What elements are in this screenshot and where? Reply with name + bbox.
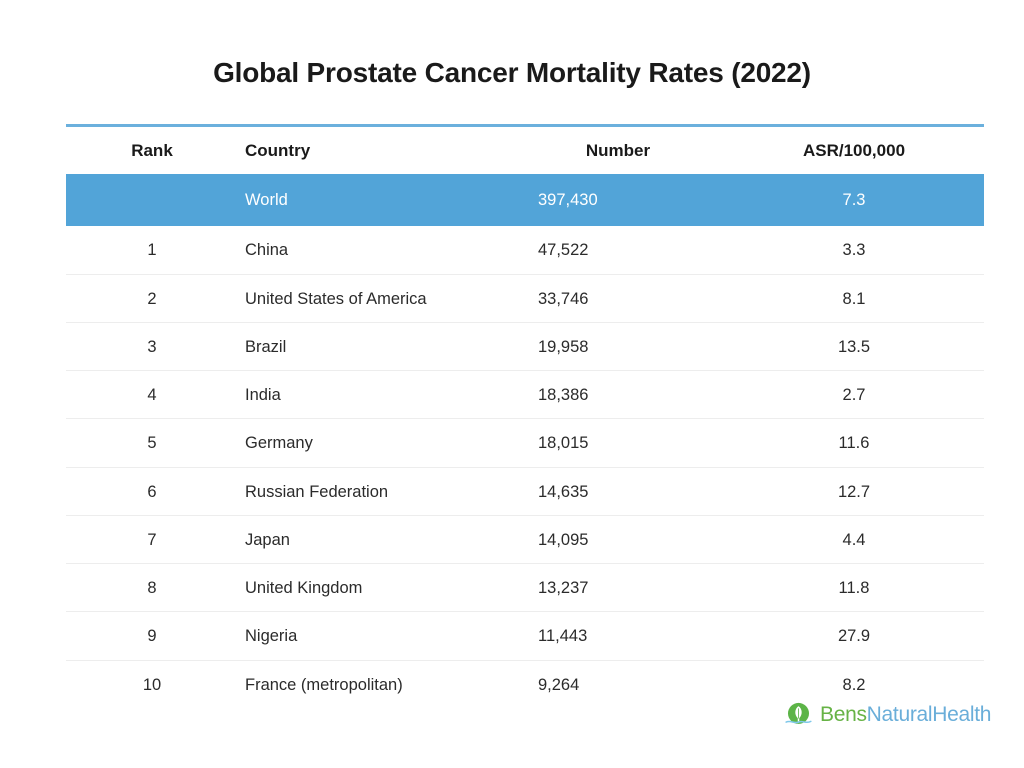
column-header-number: Number [512,127,724,174]
cell-country: Germany [238,419,512,467]
logo-text-primary: Bens [820,703,867,726]
cell-rank: 1 [66,226,238,274]
cell-rank: 9 [66,612,238,660]
logo-text-secondary: NaturalHealth [867,703,992,726]
table-header: Rank Country Number ASR/100,000 [66,127,984,174]
cell-country: India [238,371,512,419]
table-header-row: Rank Country Number ASR/100,000 [66,127,984,174]
table-row: 4India18,3862.7 [66,371,984,419]
brand-logo[interactable]: BensNaturalHealth [784,700,991,729]
cell-asr: 13.5 [724,322,984,370]
column-header-rank: Rank [66,127,238,174]
table-row: 6Russian Federation14,63512.7 [66,467,984,515]
cell-number: 19,958 [512,322,724,370]
page-title: Global Prostate Cancer Mortality Rates (… [0,57,1024,89]
cell-asr: 11.8 [724,564,984,612]
table-row: 5Germany18,01511.6 [66,419,984,467]
cell-asr: 12.7 [724,467,984,515]
table-row: 9Nigeria11,44327.9 [66,612,984,660]
cell-number: 18,015 [512,419,724,467]
table-body: World397,4307.31China47,5223.32United St… [66,174,984,708]
cell-rank: 5 [66,419,238,467]
table-row-world: World397,4307.3 [66,174,984,226]
cell-rank: 10 [66,660,238,708]
cell-number: 14,635 [512,467,724,515]
table-row: 8United Kingdom13,23711.8 [66,564,984,612]
cell-rank: 7 [66,515,238,563]
cell-asr: 11.6 [724,419,984,467]
cell-asr: 3.3 [724,226,984,274]
cell-country: United Kingdom [238,564,512,612]
cell-asr: 2.7 [724,371,984,419]
column-header-country: Country [238,127,512,174]
cell-number: 397,430 [512,174,724,226]
table-row: 7Japan14,0954.4 [66,515,984,563]
cell-country: Nigeria [238,612,512,660]
cell-country: Russian Federation [238,467,512,515]
leaf-in-circle-icon [784,700,813,729]
table-row: 3Brazil19,95813.5 [66,322,984,370]
cell-country: France (metropolitan) [238,660,512,708]
cell-rank: 3 [66,322,238,370]
cell-number: 14,095 [512,515,724,563]
cell-number: 9,264 [512,660,724,708]
column-header-asr: ASR/100,000 [724,127,984,174]
cell-country: China [238,226,512,274]
cell-number: 13,237 [512,564,724,612]
cell-asr: 8.1 [724,274,984,322]
mortality-table-container: Rank Country Number ASR/100,000 World397… [66,124,984,708]
mortality-table: Rank Country Number ASR/100,000 World397… [66,127,984,708]
cell-rank: 4 [66,371,238,419]
logo-wordmark: BensNaturalHealth [820,703,991,727]
cell-number: 18,386 [512,371,724,419]
cell-asr: 27.9 [724,612,984,660]
cell-number: 47,522 [512,226,724,274]
cell-country: Brazil [238,322,512,370]
cell-number: 33,746 [512,274,724,322]
table-row: 2United States of America33,7468.1 [66,274,984,322]
cell-asr: 4.4 [724,515,984,563]
cell-rank: 6 [66,467,238,515]
cell-rank: 8 [66,564,238,612]
cell-country: United States of America [238,274,512,322]
cell-asr: 7.3 [724,174,984,226]
cell-rank [66,174,238,226]
cell-number: 11,443 [512,612,724,660]
cell-country: Japan [238,515,512,563]
table-row: 1China47,5223.3 [66,226,984,274]
cell-country: World [238,174,512,226]
cell-rank: 2 [66,274,238,322]
